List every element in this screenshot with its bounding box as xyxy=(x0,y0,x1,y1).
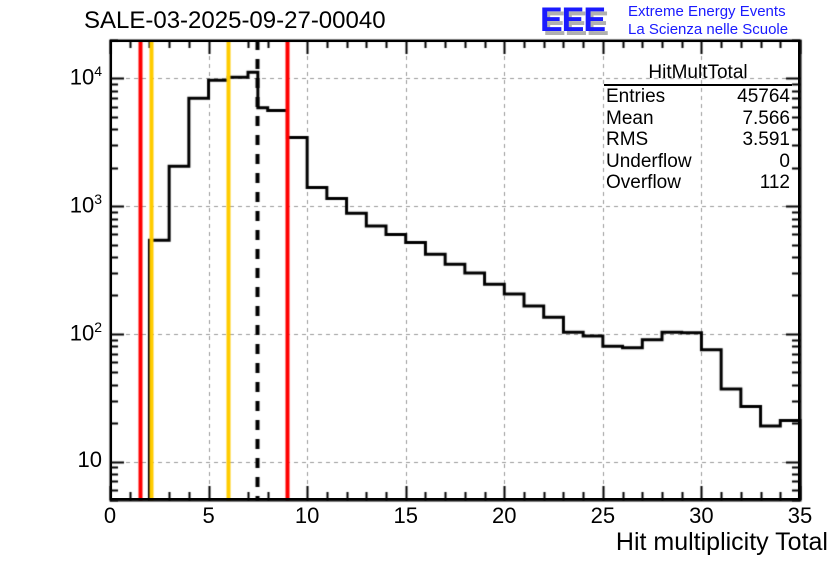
eee-logo-line2: La Scienza nelle Scuole xyxy=(628,21,788,39)
stats-row-label: RMS xyxy=(606,129,648,150)
x-axis-title: Hit multiplicity Total xyxy=(616,528,828,557)
stats-row: Underflow0 xyxy=(604,151,792,172)
eee-logo-text: Extreme Energy Events La Scienza nelle S… xyxy=(628,3,788,38)
y-tick-label: 102 xyxy=(30,319,102,346)
stats-row-label: Overflow xyxy=(606,172,681,193)
eee-logo: EEE Extreme Energy Events La Scienza nel… xyxy=(540,2,832,40)
y-tick-label: 104 xyxy=(30,63,102,90)
x-tick-label: 35 xyxy=(770,503,830,529)
x-tick-label: 5 xyxy=(179,503,239,529)
stats-row-label: Underflow xyxy=(606,151,692,172)
x-tick-label: 10 xyxy=(277,503,337,529)
stats-row-label: Entries xyxy=(606,86,665,107)
stats-row-value: 45764 xyxy=(737,86,790,107)
stats-row-value: 0 xyxy=(779,151,790,172)
stats-row-label: Mean xyxy=(606,108,654,129)
x-tick-label: 0 xyxy=(80,503,140,529)
x-tick-label: 20 xyxy=(474,503,534,529)
y-tick-label: 10 xyxy=(30,447,102,473)
stats-row: RMS3.591 xyxy=(604,129,792,150)
eee-logo-line1: Extreme Energy Events xyxy=(628,3,788,21)
x-tick-label: 15 xyxy=(376,503,436,529)
stats-row-value: 3.591 xyxy=(742,129,790,150)
eee-logo-mark: EEE xyxy=(540,3,605,37)
x-tick-label: 25 xyxy=(573,503,633,529)
stats-row: Mean7.566 xyxy=(604,108,792,129)
stats-box-title: HitMultTotal xyxy=(604,62,792,86)
y-tick-label: 103 xyxy=(30,191,102,218)
stats-row: Entries45764 xyxy=(604,86,792,107)
stats-row-value: 112 xyxy=(760,172,790,193)
histogram-figure: SALE-03-2025-09-27-00040 EEE Extreme Ene… xyxy=(0,0,836,572)
x-tick-label: 30 xyxy=(671,503,731,529)
page-title: SALE-03-2025-09-27-00040 xyxy=(84,7,386,35)
stats-row-value: 7.566 xyxy=(742,108,790,129)
stats-box: HitMultTotal Entries45764Mean7.566RMS3.5… xyxy=(604,62,792,194)
stats-row: Overflow112 xyxy=(604,172,792,193)
